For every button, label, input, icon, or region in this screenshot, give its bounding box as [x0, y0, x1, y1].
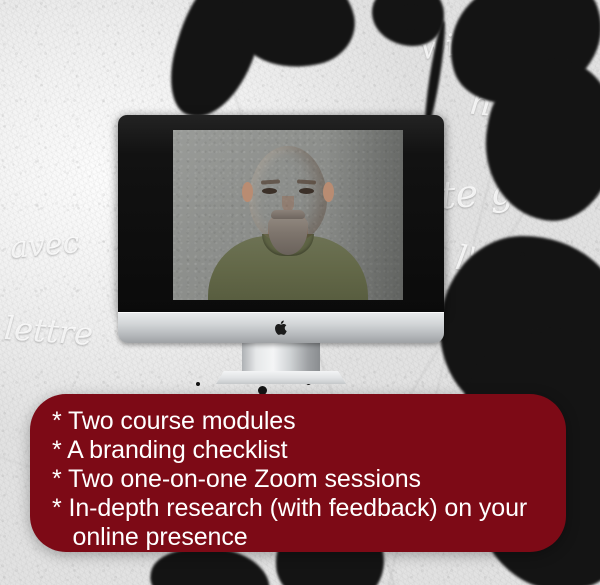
offer-list-item: * A branding checklist	[52, 436, 552, 465]
imac-screen-bezel	[118, 115, 444, 312]
offer-list-item: * Two one-on-one Zoom sessions	[52, 465, 552, 494]
promo-graphic-canvas: with hands te gloire l'essence force ave…	[0, 0, 600, 585]
offer-list-item: * In-depth research (with feedback) on y…	[52, 494, 552, 523]
imac-computer	[118, 115, 444, 343]
photo-subject-eye-left	[262, 188, 277, 194]
imac-display	[173, 130, 403, 300]
photo-subject-ear-right	[323, 182, 334, 202]
photo-subject-eye-right	[299, 188, 314, 194]
photo-subject-mustache	[271, 210, 305, 219]
imac-stand-neck	[242, 343, 320, 371]
apple-logo-icon	[274, 319, 289, 336]
imac-chin	[118, 312, 444, 343]
offer-list-item: * Two course modules	[52, 407, 552, 436]
portrait-photo	[173, 130, 403, 300]
offer-list-callout: * Two course modules * A branding checkl…	[30, 394, 566, 552]
offer-list-item: online presence	[52, 523, 552, 552]
photo-subject-ear-left	[242, 182, 253, 202]
imac-stand-base	[216, 371, 346, 384]
offer-list: * Two course modules * A branding checkl…	[52, 407, 552, 552]
